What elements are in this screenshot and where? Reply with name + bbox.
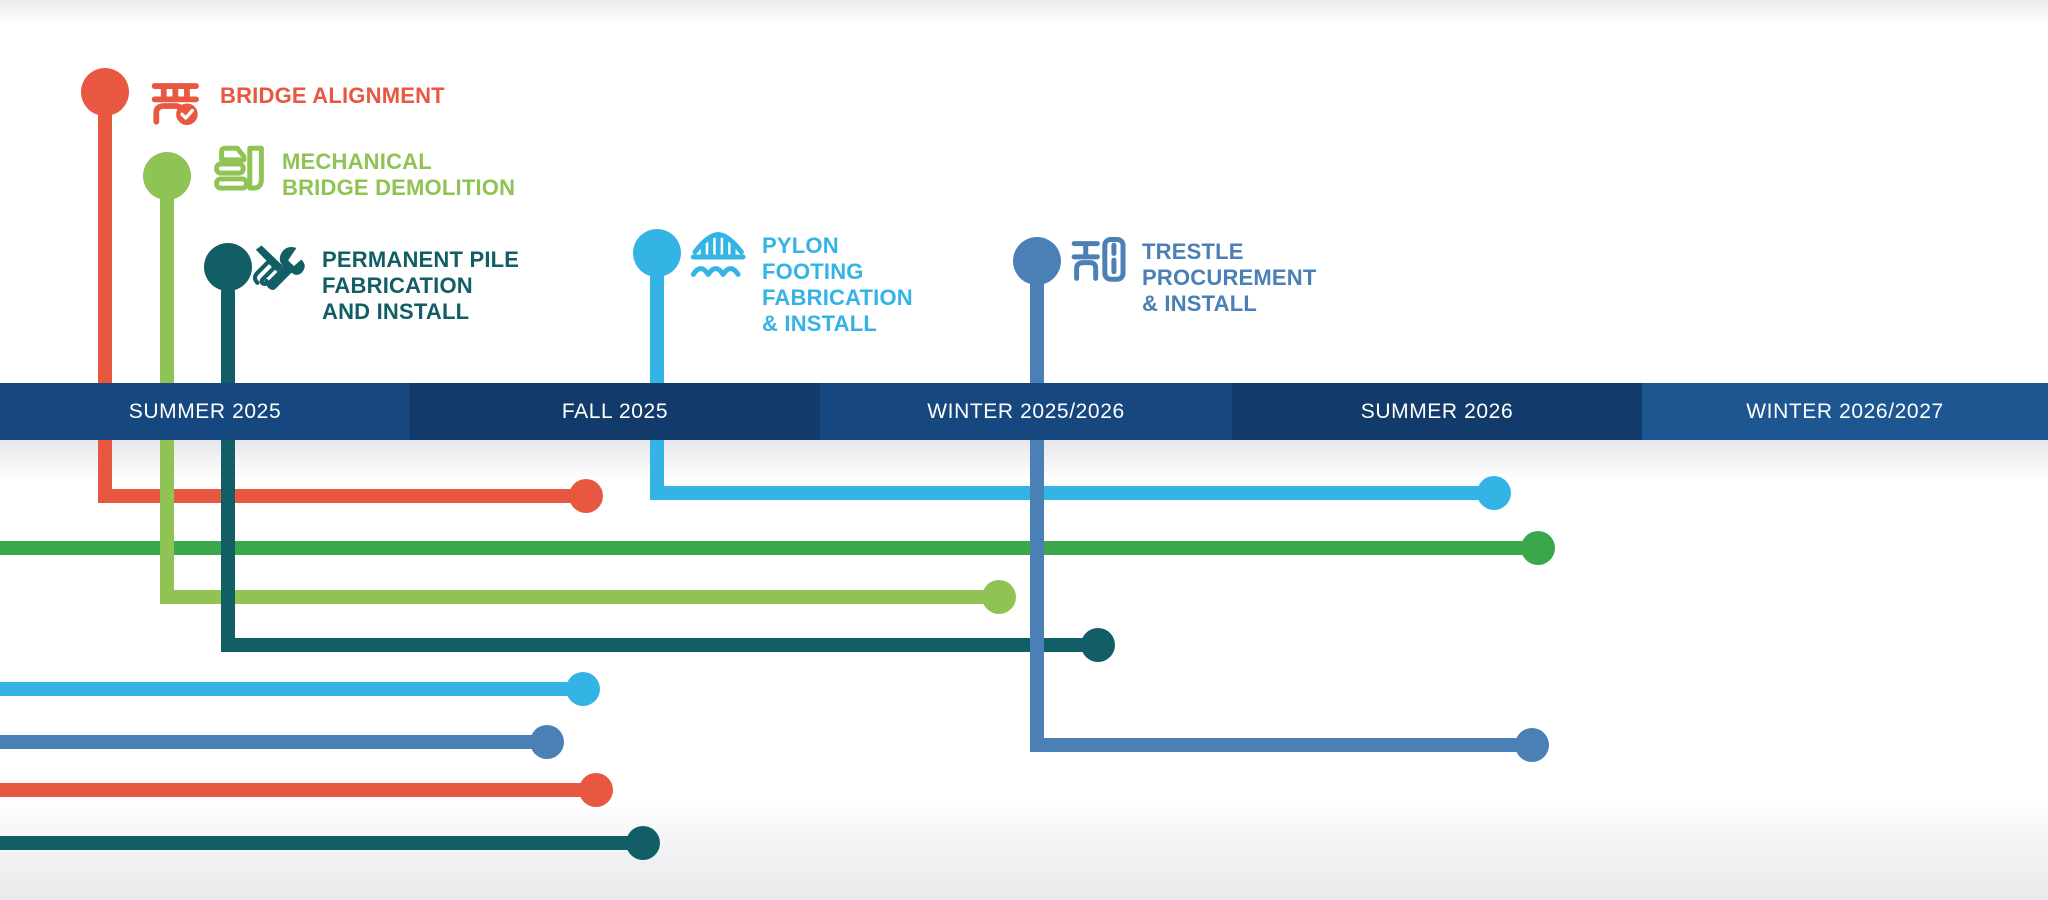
excavator-icon: [210, 140, 268, 198]
timeline-segment-label-1: FALL 2025: [562, 400, 668, 424]
permanent-pile-lower-bar-end-dot[interactable]: [626, 826, 660, 860]
timeline-segment-label-3: SUMMER 2026: [1361, 400, 1513, 424]
pylon-footing-upper-bar-end-dot[interactable]: [566, 672, 600, 706]
tools-icon: [250, 238, 308, 296]
top-gradient-band: [0, 0, 2048, 26]
legend-label-1: MECHANICAL BRIDGE DEMOLITION: [282, 148, 515, 201]
bridge-alignment-bar-end-dot[interactable]: [569, 479, 603, 513]
permanent-pile-lower-bar[interactable]: [0, 836, 643, 850]
marker-dot-4[interactable]: [1013, 237, 1061, 285]
tools-icon: [250, 238, 308, 301]
timeline-segment-1[interactable]: FALL 2025: [410, 383, 820, 440]
legend-item-2[interactable]: PERMANENT PILE FABRICATION AND INSTALL: [250, 238, 519, 325]
trestle-upper-bar[interactable]: [0, 735, 547, 749]
trestle-connector-end-dot[interactable]: [1515, 728, 1549, 762]
mechanical-demolition-bar[interactable]: [160, 590, 999, 604]
trestle-connector-vertical: [1030, 440, 1044, 752]
timeline-segment-2[interactable]: WINTER 2025/2026: [820, 383, 1232, 440]
pylon-bridge-icon: [690, 228, 748, 286]
legend-item-1[interactable]: MECHANICAL BRIDGE DEMOLITION: [210, 140, 515, 203]
marker-dot-1[interactable]: [143, 152, 191, 200]
bridge-alignment-lower-bar[interactable]: [0, 783, 596, 797]
pylon-footing-connector-end-dot[interactable]: [1477, 476, 1511, 510]
legend-label-0: BRIDGE ALIGNMENT: [220, 82, 445, 109]
season-timeline: SUMMER 2025FALL 2025WINTER 2025/2026SUMM…: [0, 383, 2048, 440]
legend-item-0[interactable]: BRIDGE ALIGNMENT: [148, 72, 445, 135]
pylon-footing-upper-bar[interactable]: [0, 682, 583, 696]
timeline-segment-label-2: WINTER 2025/2026: [927, 400, 1125, 424]
bridge-check-icon: [148, 72, 206, 130]
legend-label-4: TRESTLE PROCUREMENT & INSTALL: [1142, 238, 1317, 317]
excavator-icon: [210, 140, 268, 203]
mechanical-demolition-bar-end-dot[interactable]: [982, 580, 1016, 614]
pylon-footing-connector[interactable]: [650, 486, 1494, 500]
legend-label-2: PERMANENT PILE FABRICATION AND INSTALL: [322, 246, 519, 325]
green-continuous-bar-end-dot[interactable]: [1521, 531, 1555, 565]
middle-gradient-band: [0, 440, 2048, 480]
timeline-segment-0[interactable]: SUMMER 2025: [0, 383, 410, 440]
trestle-connector[interactable]: [1030, 738, 1532, 752]
marker-dot-2[interactable]: [204, 243, 252, 291]
marker-stem-1: [160, 176, 174, 383]
permanent-pile-bar-elbow: [221, 440, 235, 652]
timeline-segment-label-4: WINTER 2026/2027: [1746, 400, 1944, 424]
pylon-bridge-icon: [690, 228, 748, 291]
marker-dot-0[interactable]: [81, 68, 129, 116]
trestle-icon: [1070, 232, 1128, 295]
trestle-icon: [1070, 232, 1128, 290]
timeline-segment-4[interactable]: WINTER 2026/2027: [1642, 383, 2048, 440]
bottom-gradient-band: [0, 800, 2048, 900]
legend-label-3: PYLON FOOTING FABRICATION & INSTALL: [762, 232, 913, 337]
marker-dot-3[interactable]: [633, 229, 681, 277]
permanent-pile-bar-end-dot[interactable]: [1081, 628, 1115, 662]
timeline-segment-label-0: SUMMER 2025: [129, 400, 281, 424]
bridge-check-icon: [148, 72, 206, 135]
bridge-alignment-lower-bar-end-dot[interactable]: [579, 773, 613, 807]
legend-item-4[interactable]: TRESTLE PROCUREMENT & INSTALL: [1070, 232, 1317, 317]
marker-stem-0: [98, 92, 112, 383]
permanent-pile-bar[interactable]: [221, 638, 1098, 652]
mechanical-demolition-bar-elbow: [160, 440, 174, 604]
trestle-upper-bar-end-dot[interactable]: [530, 725, 564, 759]
timeline-infographic: SUMMER 2025FALL 2025WINTER 2025/2026SUMM…: [0, 0, 2048, 900]
timeline-segment-3[interactable]: SUMMER 2026: [1232, 383, 1642, 440]
legend-item-3[interactable]: PYLON FOOTING FABRICATION & INSTALL: [690, 228, 913, 337]
